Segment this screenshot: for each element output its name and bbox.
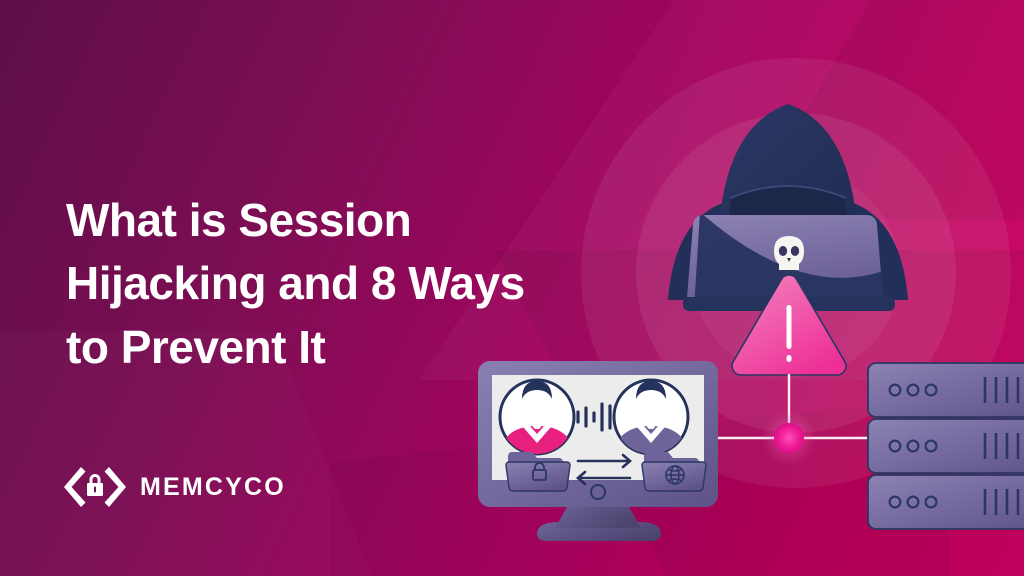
user-avatar-left — [499, 380, 575, 456]
user-session-monitor — [478, 361, 718, 541]
server-unit-3 — [868, 475, 1024, 529]
hero-banner: What is Session Hijacking and 8 Ways to … — [0, 0, 1024, 576]
server-unit-2 — [868, 419, 1024, 473]
server-rack — [868, 363, 1024, 529]
user-avatar-right — [613, 380, 689, 456]
warning-exclamation-bar — [787, 305, 792, 349]
illustration — [0, 0, 1024, 576]
server-unit-1 — [868, 363, 1024, 417]
connection-node — [774, 423, 804, 453]
warning-exclamation-dot — [787, 355, 792, 362]
network-link — [697, 374, 881, 466]
